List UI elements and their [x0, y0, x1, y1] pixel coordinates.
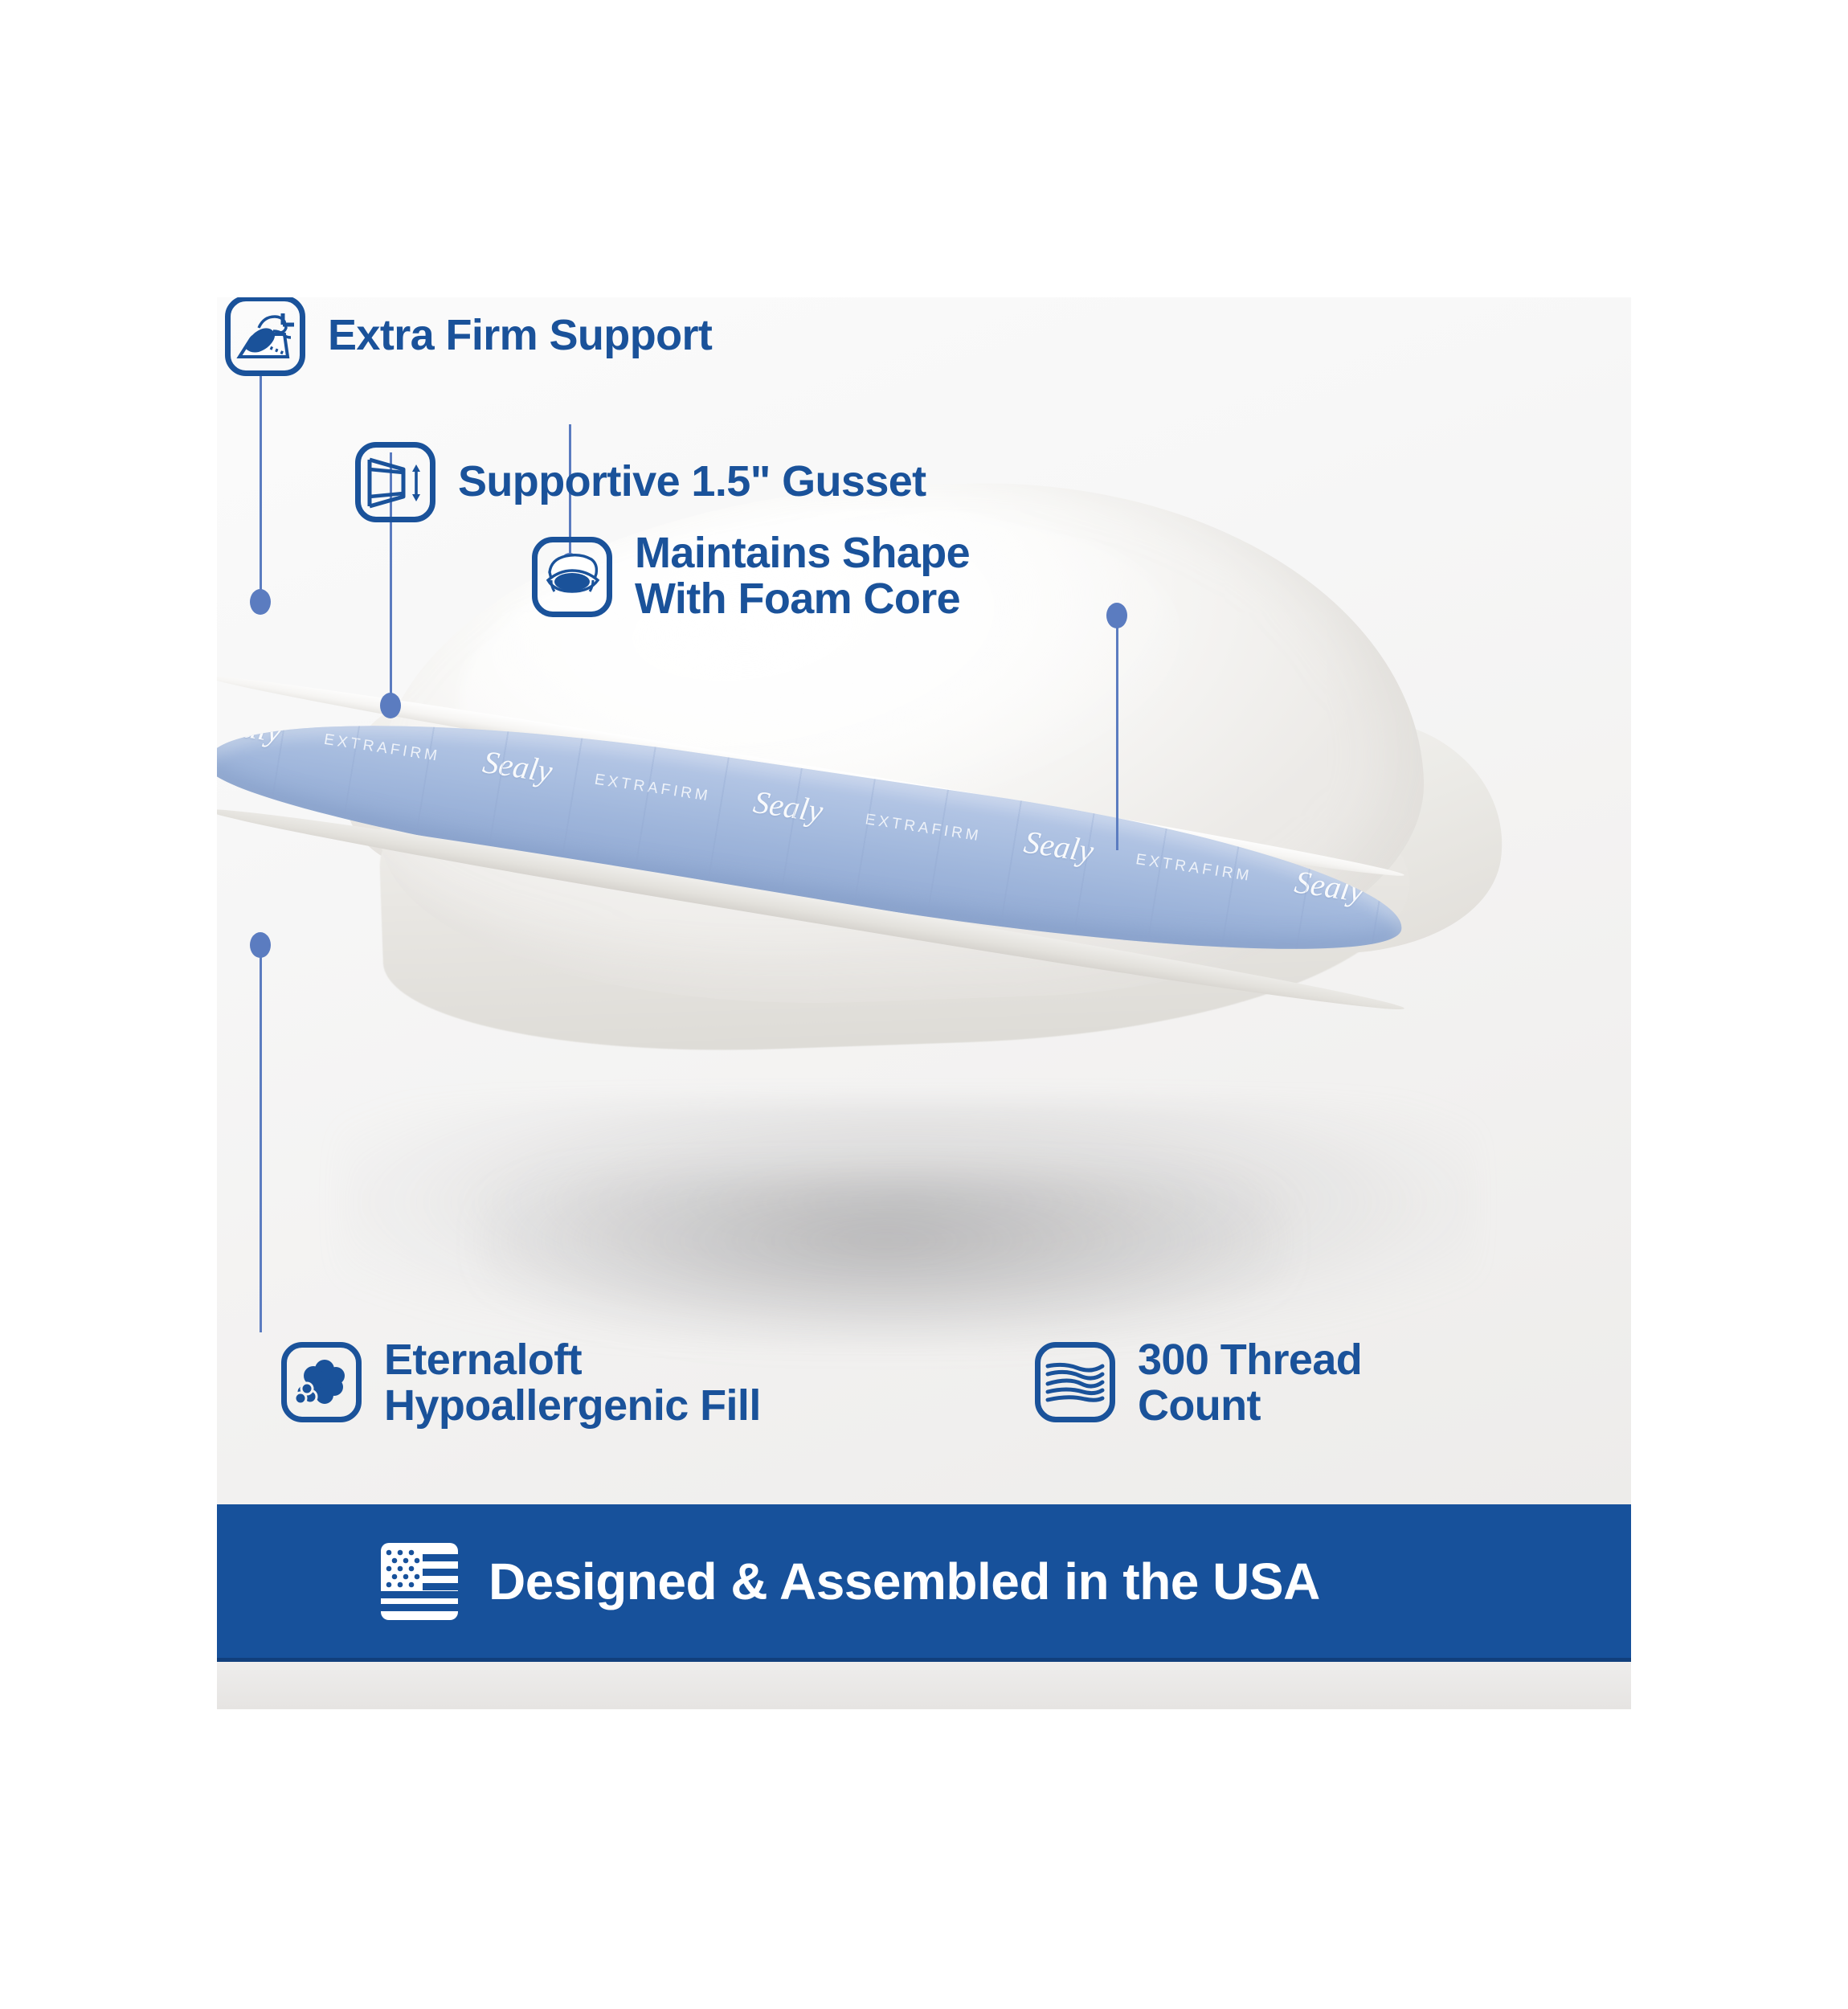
usa-banner: Designed & Assembled in the USA	[217, 1504, 1631, 1662]
panel-bottom-strip	[217, 1662, 1631, 1709]
connector-line-eternaloft-vertical	[260, 955, 262, 1332]
fiber-cluster-icon	[281, 1342, 362, 1422]
pillow-gusset-band: Sealy EXTRAFIRM Sealy EXTRAFIRM Sealy EX…	[217, 651, 1631, 1037]
feature-supportive-gusset[interactable]: Supportive 1.5" Gusset	[355, 442, 926, 522]
feature-extra-firm-support[interactable]: Extra Firm Support	[225, 297, 712, 376]
usa-banner-text: Designed & Assembled in the USA	[489, 1552, 1320, 1611]
feature-thread-count[interactable]: 300 Thread Count	[1035, 1342, 1362, 1429]
foam-core-pillow-icon	[532, 537, 612, 617]
usa-flag-icon	[378, 1540, 461, 1623]
head-on-pillow-icon	[225, 297, 305, 376]
connector-line-thread-count	[1116, 624, 1118, 850]
feature-eternaloft-fill[interactable]: Eternaloft Hypoallergenic Fill	[281, 1342, 761, 1429]
connector-dot-supportive-gusset	[380, 693, 401, 718]
connector-dot-eternaloft	[250, 932, 271, 958]
feature-label-supportive-gusset: Supportive 1.5" Gusset	[458, 459, 926, 505]
feature-maintains-shape[interactable]: Maintains Shape With Foam Core	[532, 537, 970, 622]
feature-label-thread-count: 300 Thread Count	[1138, 1337, 1362, 1429]
connector-line-extra-firm-support	[260, 376, 262, 595]
pillow-contact-shadow	[482, 1173, 1286, 1342]
feature-label-extra-firm-support: Extra Firm Support	[328, 313, 712, 358]
page-stage: Sealy EXTRAFIRM Sealy EXTRAFIRM Sealy EX…	[0, 0, 1848, 2009]
gusset-height-icon	[355, 442, 435, 522]
product-feature-panel: Sealy EXTRAFIRM Sealy EXTRAFIRM Sealy EX…	[217, 297, 1631, 1709]
feature-label-eternaloft-fill: Eternaloft Hypoallergenic Fill	[384, 1337, 761, 1429]
connector-dot-thread-count	[1106, 603, 1127, 628]
connector-dot-extra-firm-support	[250, 589, 271, 615]
feature-label-maintains-shape: Maintains Shape With Foam Core	[635, 530, 970, 622]
woven-threads-icon	[1035, 1342, 1115, 1422]
